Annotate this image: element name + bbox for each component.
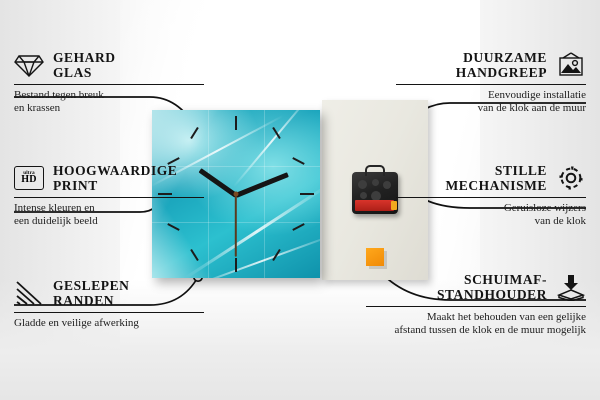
ultra-hd-icon: ultra HD — [14, 164, 44, 192]
gear-icon — [556, 164, 586, 192]
feature-hoogwaardige-print: ultra HD HOOGWAARDIGEPRINT Intense kleur… — [14, 163, 204, 228]
feature-title: SCHUIMAF-STANDHOUDER — [437, 272, 547, 302]
feature-description: Maakt het behouden van een gelijkeafstan… — [366, 311, 586, 337]
divider — [366, 306, 586, 307]
feature-title: DUURZAMEHANDGREEP — [456, 50, 547, 80]
feature-schuimafstandhouder: SCHUIMAF-STANDHOUDER Maakt het behouden … — [366, 272, 586, 337]
divider — [396, 197, 586, 198]
divider — [14, 84, 204, 85]
feature-description: Intense kleuren eneen duidelijk beeld — [14, 202, 204, 228]
mechanism-battery — [355, 200, 394, 211]
feature-gehard-glas: GEHARDGLAS Bestand tegen breuken krassen — [14, 50, 204, 115]
infographic-canvas: GEHARDGLAS Bestand tegen breuken krassen… — [0, 0, 600, 400]
clock-second-hand — [235, 195, 237, 257]
feature-description: Gladde en veilige afwerking — [14, 317, 204, 330]
clock-mechanism — [352, 172, 398, 214]
clock-hour-hand — [199, 168, 238, 197]
feature-geslepen-randen: GESLEPENRANDEN Gladde en veilige afwerki… — [14, 278, 204, 330]
mechanism-hanger — [365, 165, 385, 176]
feature-description: Eenvoudige installatievan de klok aan de… — [396, 89, 586, 115]
feature-duurzame-handgreep: DUURZAMEHANDGREEP Eenvoudige installatie… — [396, 50, 586, 115]
diamond-icon — [14, 51, 44, 79]
feature-title: HOOGWAARDIGEPRINT — [53, 163, 177, 193]
feature-stille-mechanisme: STILLEMECHANISME Geruisloze wijzersvan d… — [396, 163, 586, 228]
clock-center-pin — [234, 192, 239, 197]
feature-description: Geruisloze wijzersvan de klok — [396, 202, 586, 228]
divider — [396, 84, 586, 85]
divider — [14, 312, 204, 313]
divider — [14, 197, 204, 198]
feature-title: GESLEPENRANDEN — [53, 278, 129, 308]
ultra-hd-bottom: HD — [21, 175, 37, 185]
diagonal-lines-icon — [14, 279, 44, 307]
press-down-pad-icon — [556, 273, 586, 301]
foam-spacer — [366, 248, 384, 266]
feature-title: STILLEMECHANISME — [445, 163, 547, 193]
feature-description: Bestand tegen breuken krassen — [14, 89, 204, 115]
picture-frame-icon — [556, 51, 586, 79]
feature-title: GEHARDGLAS — [53, 50, 116, 80]
